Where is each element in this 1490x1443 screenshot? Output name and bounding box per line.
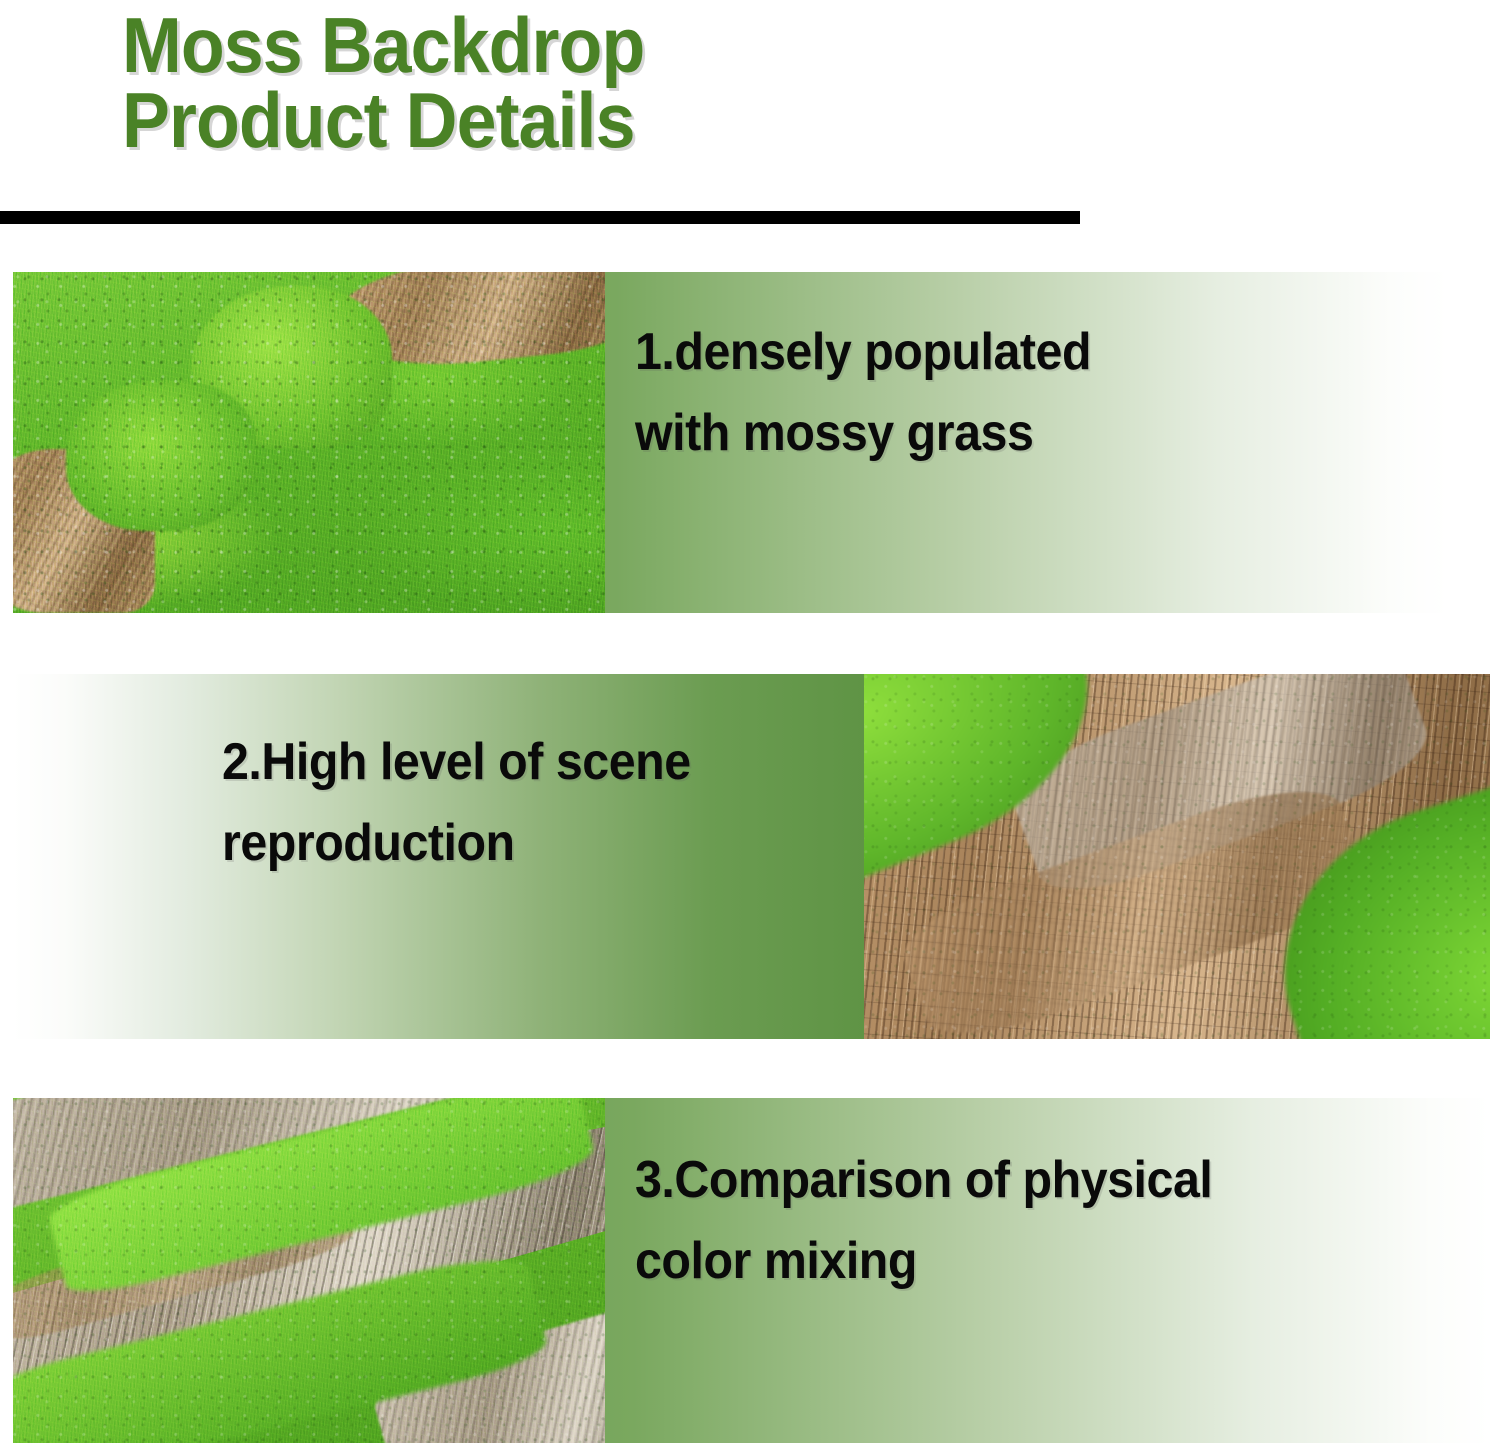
title-underline-rule (0, 211, 1080, 224)
moss-bark-stripes-photo-3 (13, 1098, 605, 1443)
moss-closeup-photo-1 (13, 272, 605, 613)
bark-closeup-photo-2 (864, 674, 1490, 1039)
panel-1-caption: 1.densely populated with mossy grass (635, 312, 1360, 473)
panel-3-caption: 3.Comparison of physical color mixing (635, 1140, 1379, 1301)
moss-speckle-layer (13, 272, 605, 613)
page-title: Moss Backdrop Product Details (122, 8, 1042, 158)
moss-speckle-layer (13, 1098, 605, 1443)
feature-panel-3: 3.Comparison of physical color mixing (13, 1098, 1490, 1443)
feature-panel-1: 1.densely populated with mossy grass (13, 272, 1448, 613)
page-header: Moss Backdrop Product Details (0, 0, 1490, 250)
panel-2-caption: 2.High level of scene reproduction (222, 722, 873, 883)
texture-speckle-layer (864, 674, 1490, 1039)
